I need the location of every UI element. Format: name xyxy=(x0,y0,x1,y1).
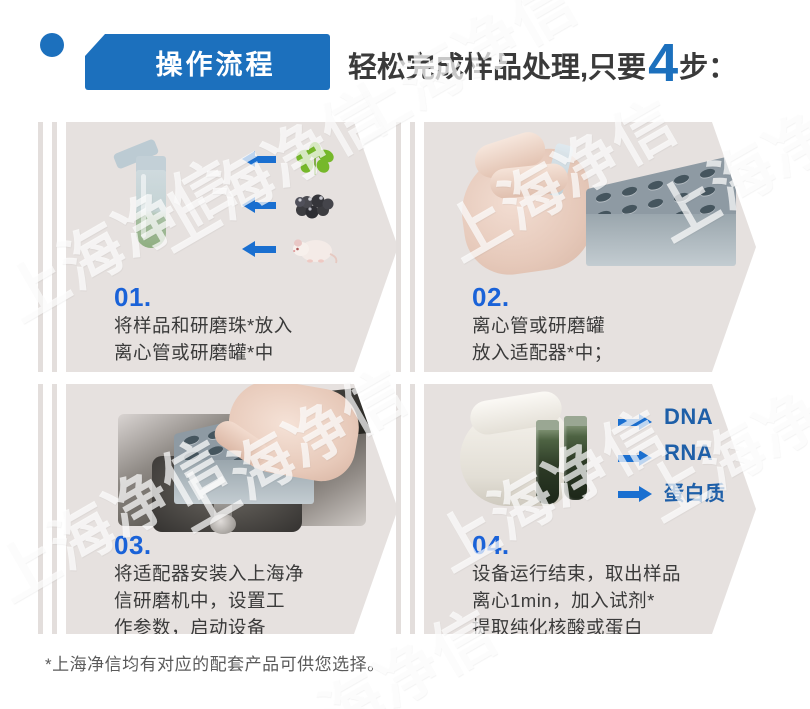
step-card-03: 03. 将适配器安装入上海净 信研磨机中，设置工 作参数，启动设备 xyxy=(38,380,398,638)
arrow-left-icon xyxy=(242,197,276,214)
page-header: 操作流程 轻松完成样品处理,只要 4 步： xyxy=(0,0,810,118)
bullet-dot-icon xyxy=(40,33,64,57)
step-number: 04. xyxy=(472,530,510,561)
mouse-icon xyxy=(292,232,338,266)
step-card-body: 02. 离心管或研磨罐 放入适配器*中； xyxy=(424,122,756,372)
centrifuge-tube-icon xyxy=(128,148,170,266)
output-label-dna: DNA xyxy=(664,404,713,430)
card-accent-bar xyxy=(38,384,43,634)
installing-adapter-photo xyxy=(118,390,368,530)
section-banner-label: 操作流程 xyxy=(85,34,330,90)
step-description-line: 信研磨机中，设置工 xyxy=(114,587,384,614)
card-accent-bar xyxy=(396,384,401,634)
arrow-right-icon xyxy=(618,414,652,431)
step-description-line: 将样品和研磨珠*放入 xyxy=(114,312,384,339)
card-accent-bar xyxy=(410,384,415,634)
step-description: 设备运行结束，取出样品 离心1min，加入试剂* 提取纯化核酸或蛋白 xyxy=(472,560,742,641)
step-number: 02. xyxy=(472,282,510,313)
step-card-body: 03. 将适配器安装入上海净 信研磨机中，设置工 作参数，启动设备 xyxy=(66,384,398,634)
arrow-left-icon xyxy=(242,151,276,168)
card-accent-bar xyxy=(410,122,415,372)
machine-knob xyxy=(210,514,236,534)
step-description-line: 离心管或研磨罐 xyxy=(472,312,742,339)
step-card-body: DNA RNA 蛋白质 04. 设备运行结束，取出样品 离心1min，加入试剂*… xyxy=(424,384,756,634)
vial-cap xyxy=(536,420,559,430)
step-description-line: 离心管或研磨罐*中 xyxy=(114,339,384,366)
output-label-rna: RNA xyxy=(664,440,713,466)
step-description: 将适配器安装入上海净 信研磨机中，设置工 作参数，启动设备 xyxy=(114,560,384,641)
step-description-line: 作参数，启动设备 xyxy=(114,614,384,641)
arrow-right-icon xyxy=(618,486,652,503)
leaf-icon xyxy=(292,142,338,176)
step-description-line: 提取纯化核酸或蛋白 xyxy=(472,614,742,641)
footer-note: *上海净信均有对应的配套产品可供您选择。 xyxy=(45,650,385,675)
page-headline: 轻松完成样品处理,只要 4 步： xyxy=(348,38,737,96)
tube-and-samples-illustration xyxy=(106,140,356,275)
card-accent-bar xyxy=(52,384,57,634)
step-description-line: 将适配器安装入上海净 xyxy=(114,560,384,587)
headline-text-part2: 步： xyxy=(679,44,737,86)
step-description-line: 离心1min，加入试剂* xyxy=(472,587,742,614)
step-card-04: DNA RNA 蛋白质 04. 设备运行结束，取出样品 离心1min，加入试剂*… xyxy=(396,380,756,638)
step-card-01: 01. 将样品和研磨珠*放入 离心管或研磨罐*中 xyxy=(38,118,398,376)
step-description-line: 设备运行结束，取出样品 xyxy=(472,560,742,587)
card-accent-bar xyxy=(38,122,43,372)
card-accent-bar xyxy=(396,122,401,372)
arrow-left-icon xyxy=(242,241,276,258)
steps-grid: 01. 将样品和研磨珠*放入 离心管或研磨罐*中 xyxy=(0,118,810,638)
step-description: 将样品和研磨珠*放入 离心管或研磨罐*中 xyxy=(114,312,384,366)
headline-text-part1: 轻松完成样品处理,只要 xyxy=(348,44,646,86)
step-card-body: 01. 将样品和研磨珠*放入 离心管或研磨罐*中 xyxy=(66,122,398,372)
adapter-block-icon xyxy=(570,158,760,278)
step-description: 离心管或研磨罐 放入适配器*中； xyxy=(472,312,742,366)
tube-highlight xyxy=(141,174,146,238)
card-accent-bar xyxy=(52,122,57,372)
grinding-beads-icon xyxy=(292,188,338,222)
arrow-right-icon xyxy=(618,450,652,467)
section-banner: 操作流程 xyxy=(85,34,330,90)
step-card-02: 02. 离心管或研磨罐 放入适配器*中； xyxy=(396,118,756,376)
output-label-protein: 蛋白质 xyxy=(664,477,726,506)
step-number: 01. xyxy=(114,282,152,313)
sample-vials-and-outputs-illustration: DNA RNA 蛋白质 xyxy=(460,392,750,540)
vial-cap xyxy=(564,416,587,426)
sample-vial-icon xyxy=(536,420,559,504)
headline-step-count: 4 xyxy=(648,42,678,85)
step-description-line: 放入适配器*中； xyxy=(472,339,742,366)
step-number: 03. xyxy=(114,530,152,561)
sample-vial-icon xyxy=(564,416,587,500)
hand-holding-adapter-photo xyxy=(454,132,724,277)
